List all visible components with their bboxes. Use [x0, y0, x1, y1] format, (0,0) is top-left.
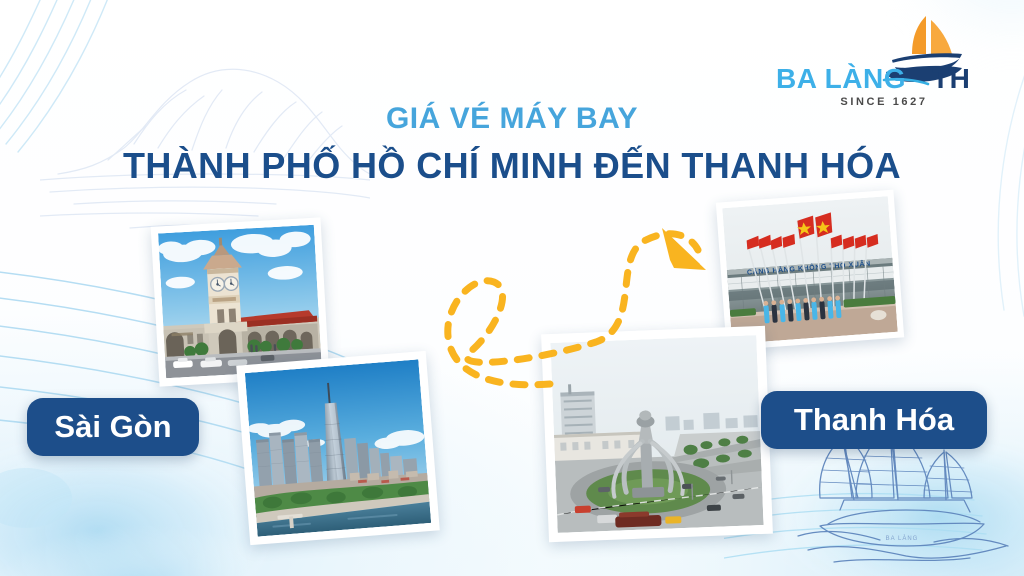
page-title: GIÁ VÉ MÁY BAY THÀNH PHỐ HỒ CHÍ MINH ĐẾN…: [0, 104, 1024, 184]
badge-origin-sai-gon[interactable]: Sài Gòn: [27, 398, 199, 456]
title-line-2: THÀNH PHỐ HỒ CHÍ MINH ĐẾN THANH HÓA: [0, 148, 1024, 184]
dashed-flight-arrow-icon: [430, 212, 730, 397]
poster-canvas: BA LÀNG BA LÀNG TH SINCE 1627 GIÁ VÉ MÁY…: [0, 0, 1024, 576]
badge-destination-label: Thanh Hóa: [794, 402, 954, 438]
badge-destination-thanh-hoa[interactable]: Thanh Hóa: [761, 391, 987, 449]
photo-landmark-81[interactable]: [236, 351, 440, 545]
brand-name-part2: TH: [932, 63, 970, 94]
ship-hull-label: BA LÀNG: [886, 535, 919, 542]
badge-origin-label: Sài Gòn: [54, 409, 171, 445]
title-line-1: GIÁ VÉ MÁY BAY: [0, 104, 1024, 134]
brand-name-part1: BA LÀNG: [776, 63, 906, 94]
brand-logo[interactable]: BA LÀNG TH SINCE 1627: [766, 10, 996, 110]
